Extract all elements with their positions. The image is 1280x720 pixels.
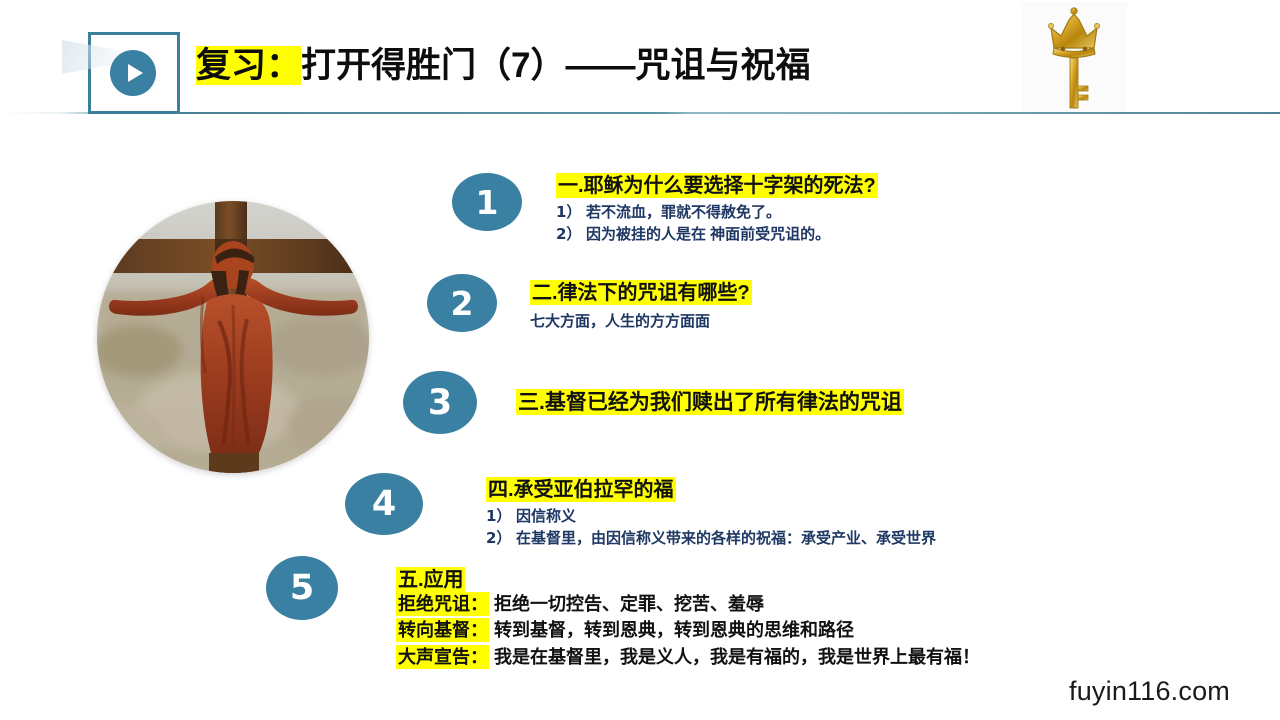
application-label: 转向基督：: [396, 618, 489, 642]
frame-corner-bottom-left: [88, 85, 117, 114]
frame-corner-top-right: [151, 32, 180, 61]
number-circle-2: 2: [427, 274, 497, 332]
number-circle-1: 1: [452, 173, 522, 231]
item-heading-1: 一.耶稣为什么要选择十字架的死法?: [556, 174, 878, 199]
item-heading-2-text: 二.律法下的咒诅有哪些?: [530, 280, 752, 305]
list-item: 1）若不流血，罪就不得赦免了。: [556, 202, 878, 224]
application-line: 大声宣告：我是在基督里，我是义人，我是有福的，我是世界上最有福！: [396, 645, 980, 669]
page-title-highlight: 复习：: [196, 46, 301, 85]
item-bullets-1: 1）若不流血，罪就不得赦免了。 2）因为被挂的人是在 神面前受咒诅的。: [556, 202, 878, 246]
item-block-4: 四.承受亚伯拉罕的福 1）因信称义 2）在基督里，由因信称义带来的各样的祝福：承…: [486, 478, 936, 550]
list-item: 2）在基督里，由因信称义带来的各样的祝福：承受产业、承受世界: [486, 528, 936, 550]
frame-corner-bottom-right: [151, 85, 180, 114]
list-item: 2）因为被挂的人是在 神面前受咒诅的。: [556, 224, 878, 246]
item-block-2: 二.律法下的咒诅有哪些? 七大方面，人生的方方面面: [530, 281, 752, 331]
item-heading-1-text: 一.耶稣为什么要选择十字架的死法?: [556, 173, 878, 198]
item-block-1: 一.耶稣为什么要选择十字架的死法? 1）若不流血，罪就不得赦免了。 2）因为被挂…: [556, 174, 878, 246]
page-title: 复习：打开得胜门（7）——咒诅与祝福: [196, 46, 810, 86]
frame-edge-right: [177, 58, 180, 88]
page-title-rest: 打开得胜门（7）——咒诅与祝福: [301, 46, 810, 85]
list-item: 1）因信称义: [486, 506, 936, 528]
frame-edge-bottom: [114, 111, 154, 114]
bullet-marker: 1）: [486, 506, 516, 528]
bullet-marker: 2）: [556, 224, 586, 246]
header-divider: [0, 112, 1280, 114]
number-circle-5: 5: [266, 556, 338, 620]
item-block-5: 五.应用 拒绝咒诅：拒绝一切控告、定罪、挖苦、羞辱 转向基督：转到基督，转到恩典…: [396, 570, 980, 669]
slide-canvas: 复习：打开得胜门（7）——咒诅与祝福: [0, 0, 1280, 720]
item-heading-3-text: 三.基督已经为我们赎出了所有律法的咒诅: [516, 389, 904, 415]
item-subtext-2: 七大方面，人生的方方面面: [530, 310, 752, 331]
number-circle-4: 4: [345, 473, 423, 535]
watermark: fuyin116.com: [1069, 676, 1230, 707]
item-heading-4-text: 四.承受亚伯拉罕的福: [486, 477, 676, 502]
application-label: 大声宣告：: [396, 645, 489, 669]
item-block-3: 三.基督已经为我们赎出了所有律法的咒诅: [516, 390, 904, 416]
application-line: 转向基督：转到基督，转到恩典，转到恩典的思维和路径: [396, 618, 980, 642]
item-bullets-4: 1）因信称义 2）在基督里，由因信称义带来的各样的祝福：承受产业、承受世界: [486, 506, 936, 550]
frame-edge-top: [114, 32, 154, 35]
bullet-text: 因信称义: [516, 508, 576, 525]
crucifixion-photo: [97, 201, 369, 473]
item-heading-2: 二.律法下的咒诅有哪些?: [530, 281, 752, 306]
application-text: 拒绝一切控告、定罪、挖苦、羞辱: [489, 594, 764, 614]
application-text: 我是在基督里，我是义人，我是有福的，我是世界上最有福！: [489, 647, 980, 667]
item-heading-5-text: 五.应用: [396, 567, 465, 593]
number-circle-3: 3: [403, 371, 477, 434]
item-heading-3: 三.基督已经为我们赎出了所有律法的咒诅: [516, 390, 904, 416]
bullet-marker: 2）: [486, 528, 516, 550]
application-text: 转到基督，转到恩典，转到恩典的思维和路径: [489, 620, 854, 640]
bullet-text: 在基督里，由因信称义带来的各样的祝福：承受产业、承受世界: [516, 530, 936, 547]
application-label: 拒绝咒诅：: [396, 592, 489, 616]
crown-key-icon: [1021, 2, 1127, 112]
bullet-text: 若不流血，罪就不得赦免了。: [586, 204, 781, 221]
application-line: 拒绝咒诅：拒绝一切控告、定罪、挖苦、羞辱: [396, 592, 980, 616]
bullet-text: 因为被挂的人是在 神面前受咒诅的。: [586, 226, 830, 243]
bullet-marker: 1）: [556, 202, 586, 224]
item-heading-4: 四.承受亚伯拉罕的福: [486, 478, 936, 503]
frame-bracket-icon: [88, 32, 180, 114]
item-heading-5: 五.应用: [396, 570, 980, 590]
